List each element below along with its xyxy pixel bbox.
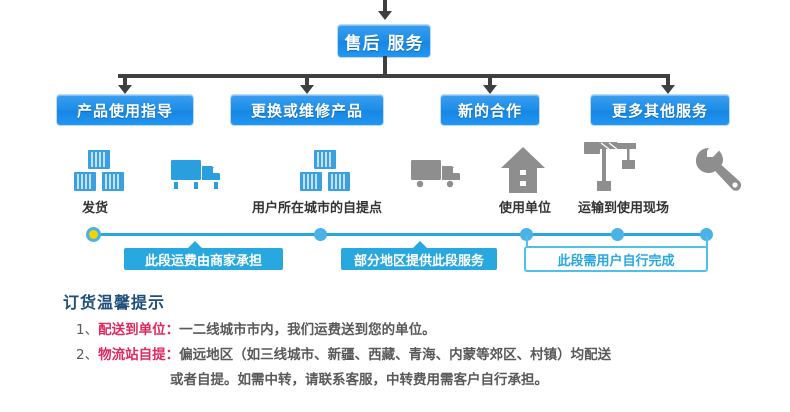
node-label-0: 发货 [82,197,108,216]
note-item-1: 1、配送到单位：一二线城市市内，我们运费送到您的单位。 [76,318,436,338]
timeline-tag-0: 此段运费由商家承担 [124,248,283,270]
note-emphasis-2: 物流站自提： [98,347,179,363]
timeline-dot-1 [314,228,327,241]
timeline-tag-label-2: 此段需用户自行完成 [557,250,674,269]
flow-leaf-box-0: 产品使用指导 [56,94,194,126]
wrench-icon [694,146,742,198]
notes-title: 订货温馨提示 [63,289,165,313]
note-item-2: 2、物流站自提：偏远地区（如三线城市、新疆、西藏、青海、内蒙等郊区、村镇）均配送 [76,343,611,363]
note-item-2-continuation: 或者自提。如需中转，请联系客服，中转费用需客户自行承担。 [170,368,548,388]
node-label-4: 使用单位 [499,197,551,216]
timeline-tag-1: 部分地区提供此段服务 [341,248,497,270]
house-icon [500,146,546,198]
flow-leaf-label-2: 新的合作 [458,100,522,121]
note-number-2: 2、 [76,347,98,363]
timeline-dot-start [86,227,101,242]
connector-arrow-leaf-3 [666,74,670,86]
flow-root-label: 售后 服务 [345,29,424,54]
flow-leaf-box-3: 更多其他服务 [590,94,730,126]
flow-leaf-label-3: 更多其他服务 [612,100,708,121]
flow-leaf-box-1: 更换或维修产品 [230,94,384,126]
infographic-canvas: 售后 服务 产品使用指导 更换或维修产品 新的合作 更多其他服务 [0,0,790,412]
crane-icon [582,140,644,198]
node-label-5: 运输到使用现场 [578,197,669,216]
connector-arrow-leaf-1 [305,74,309,86]
timeline-tag-pointer-1 [413,241,427,248]
timeline-dot-3 [611,228,624,241]
connector-horizontal-bar [118,74,670,78]
note-emphasis-1: 配送到单位： [98,322,179,338]
timeline-tag-2: 此段需用户自行完成 [524,246,708,272]
connector-arrow-leaf-0 [123,74,127,86]
connector-arrow-to-root [383,0,387,12]
note-number-1: 1、 [76,322,98,338]
timeline-tag-pointer-0 [188,241,202,248]
stacked-boxes-icon [72,148,126,198]
note-text-2: 偏远地区（如三线城市、新疆、西藏、青海、内蒙等郊区、村镇）均配送 [179,347,611,363]
flow-leaf-label-0: 产品使用指导 [77,100,173,121]
delivery-truck-icon [170,156,224,198]
stacked-boxes-icon [298,148,352,198]
flow-leaf-label-1: 更换或维修产品 [251,100,363,121]
timeline-tag-label-0: 此段运费由商家承担 [145,250,262,269]
connector-arrow-leaf-2 [488,74,492,86]
flow-root-box: 售后 服务 [337,24,431,58]
node-label-2: 用户所在城市的自提点 [252,197,382,216]
flow-leaf-box-2: 新的合作 [440,94,540,126]
delivery-truck-icon [410,156,464,198]
note-text-1: 一二线城市市内，我们运费送到您的单位。 [179,322,436,338]
timeline-tag-label-1: 部分地区提供此段服务 [354,250,484,269]
